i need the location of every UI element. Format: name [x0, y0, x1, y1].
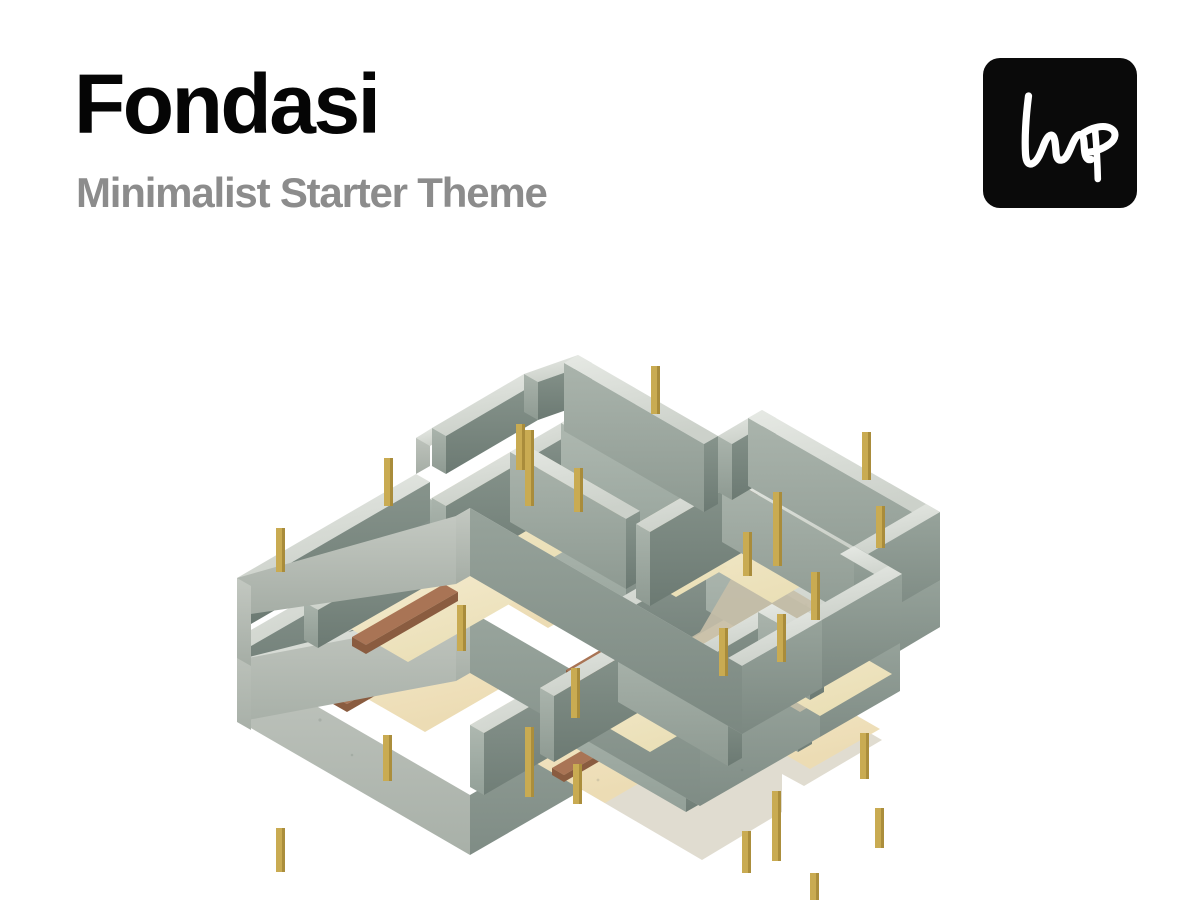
logo-badge[interactable] [983, 58, 1137, 208]
hrp-monogram-icon [983, 58, 1137, 208]
foundation-illustration [0, 300, 1200, 900]
perimeter-wall-left-outer [237, 638, 251, 730]
title-block: Fondasi Minimalist Starter Theme [74, 62, 547, 214]
poster-canvas: Fondasi Minimalist Starter Theme [0, 0, 1200, 900]
page-title: Fondasi [74, 62, 547, 146]
page-subtitle: Minimalist Starter Theme [76, 172, 547, 214]
header: Fondasi Minimalist Starter Theme [0, 0, 1200, 260]
isometric-foundation-svg [0, 300, 1200, 900]
perimeter-wall-back-right [561, 415, 712, 564]
